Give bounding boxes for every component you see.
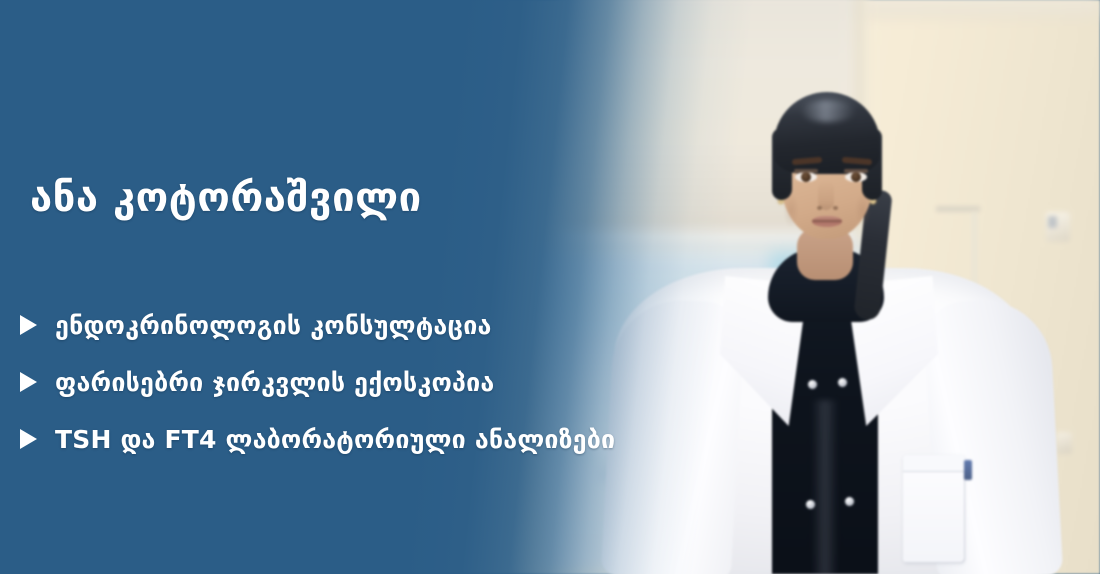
triangle-right-icon bbox=[20, 429, 37, 449]
doctor-name-title: ანა კოტორაშვილი bbox=[30, 176, 422, 220]
doctor-profile-banner: ანა კოტორაშვილი ენდოკრინოლოგის კონსულტაც… bbox=[0, 0, 1100, 574]
triangle-right-icon bbox=[20, 372, 37, 392]
service-label: ენდოკრინოლოგის კონსულტაცია bbox=[55, 311, 492, 340]
service-list-item: ენდოკრინოლოგის კონსულტაცია bbox=[20, 306, 720, 344]
services-list: ენდოკრინოლოგის კონსულტაცია ფარისებრი ჯირ… bbox=[20, 306, 720, 477]
service-label: TSH და FT4 ლაბორატორიული ანალიზები bbox=[55, 425, 615, 454]
triangle-right-icon bbox=[20, 315, 37, 335]
service-label: ფარისებრი ჯირკვლის ექოსკოპია bbox=[55, 368, 494, 397]
service-list-item: TSH და FT4 ლაბორატორიული ანალიზები bbox=[20, 420, 720, 458]
banner-text-content: ანა კოტორაშვილი ენდოკრინოლოგის კონსულტაც… bbox=[0, 0, 640, 574]
service-list-item: ფარისებრი ჯირკვლის ექოსკოპია bbox=[20, 363, 720, 401]
